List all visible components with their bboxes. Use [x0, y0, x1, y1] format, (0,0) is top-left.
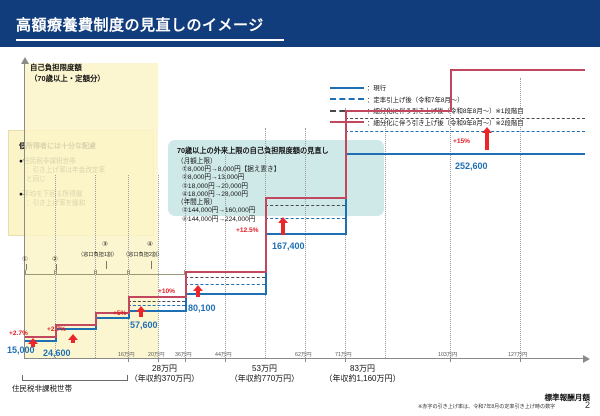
line-stage2-seg: [265, 197, 345, 199]
line-current-seg: [345, 153, 585, 155]
increase-label: +10%: [158, 288, 175, 295]
line-stage2-seg: [128, 296, 185, 298]
line-flatrate-seg: [265, 218, 345, 219]
bracket-number: ④: [147, 240, 153, 248]
line-stage1-seg: [265, 205, 345, 206]
bracket-number: ③: [102, 240, 108, 248]
gridline: [385, 108, 386, 358]
line-stage1-seg: [345, 118, 585, 119]
increase-label: +15%: [453, 138, 470, 145]
x-tick-mark: [305, 358, 306, 362]
increase-label: +2.7%: [9, 330, 28, 337]
line-stage2-seg: [185, 271, 265, 273]
value-label: 80,100: [188, 303, 216, 313]
low-income-bracket: [22, 375, 128, 381]
line-flatrate-seg: [345, 131, 585, 132]
gridline: [225, 155, 226, 358]
x-tick-label: 127万円: [508, 350, 527, 358]
increase-label: +12.5%: [236, 227, 259, 234]
value-label: 167,400: [272, 241, 305, 251]
x-category-sub: （年収約370万円）: [130, 374, 199, 383]
step-chart: 自己負担限度額（70歳以上・定額分） 1: [0, 55, 600, 360]
x-tick-mark: [185, 358, 186, 362]
line-current-seg: [265, 233, 345, 235]
line-current-seg: [95, 317, 128, 319]
gridline: [95, 175, 96, 358]
y-axis-label: 自己負担限度額（70歳以上・定額分）: [30, 63, 105, 84]
bracket-range: [96, 270, 128, 275]
bracket-number: ①: [22, 255, 28, 263]
bracket-range: [56, 270, 95, 275]
x-category-sub: （年収約1,160万円）: [324, 374, 400, 383]
x-tick-label: 16万円: [118, 350, 135, 358]
increase-label: +5%: [113, 310, 126, 317]
bracket-range: [129, 270, 185, 275]
value-label: 57,600: [130, 320, 158, 330]
bracket-number: ②: [52, 255, 58, 263]
line-stage2-seg: [450, 69, 585, 71]
bracket-tick: [151, 261, 152, 269]
bracket-range: [25, 270, 55, 275]
x-tick-label: 62万円: [295, 350, 312, 358]
line-stage2-seg: [95, 312, 97, 326]
bracket-tick: [106, 261, 107, 269]
x-category-sub: （年収約770万円）: [230, 374, 299, 383]
line-stage2-seg: [185, 271, 187, 298]
value-label: 252,600: [455, 161, 488, 171]
line-stage2-seg: [450, 69, 452, 112]
value-label: 24,600: [43, 348, 71, 358]
bracket-sublabel: （窓口負担2割）: [123, 251, 162, 258]
low-income-bracket-label: 住民税非課税世帯: [12, 383, 72, 394]
gridline: [520, 78, 521, 358]
x-tick-label: 103万円: [438, 350, 457, 358]
x-axis-title: 標準報酬月額: [544, 392, 590, 403]
title-underline: [16, 39, 284, 41]
x-tick-mark: [520, 358, 521, 362]
x-axis-arrow-icon: [583, 355, 590, 363]
line-stage2-seg: [345, 110, 450, 112]
gridline: [450, 78, 451, 358]
line-stage1-seg: [185, 277, 265, 278]
x-tick-label: 20万円: [148, 350, 165, 358]
x-tick-mark: [450, 358, 451, 362]
bracket-sublabel: （窓口負担1割）: [78, 251, 117, 258]
x-category-main: 53万円: [252, 364, 277, 373]
x-category-main: 83万円: [350, 364, 375, 373]
page-number: 2: [585, 400, 590, 410]
x-tick-mark: [225, 358, 226, 362]
line-stage2-seg: [345, 110, 347, 199]
gridline: [185, 155, 186, 358]
page-title: 高額療養費制度の見直しのイメージ: [16, 14, 264, 35]
increase-label: +2.7%: [47, 326, 66, 333]
line-stage1-seg: [128, 301, 185, 302]
x-tick-mark: [128, 358, 129, 362]
gridline: [158, 175, 159, 358]
y-axis-line: [24, 63, 25, 358]
x-tick-mark: [158, 358, 159, 362]
line-stage2-seg: [265, 197, 267, 273]
x-tick-label: 71万円: [335, 350, 352, 358]
gridline: [305, 128, 306, 358]
x-tick-label: 44万円: [215, 350, 232, 358]
x-category-label: 83万円 （年収約1,160万円）: [300, 364, 425, 385]
gridline: [128, 175, 129, 358]
x-axis-line: [24, 358, 584, 359]
x-tick-mark: [345, 358, 346, 362]
footnote: ※赤字の引き上げ率は、令和7年8月の定率引き上げ時の数字: [418, 403, 555, 410]
x-tick-label: 36万円: [175, 350, 192, 358]
x-category-main: 28万円: [152, 364, 177, 373]
band-reduced: [128, 63, 158, 358]
line-stage2-seg: [128, 296, 130, 314]
